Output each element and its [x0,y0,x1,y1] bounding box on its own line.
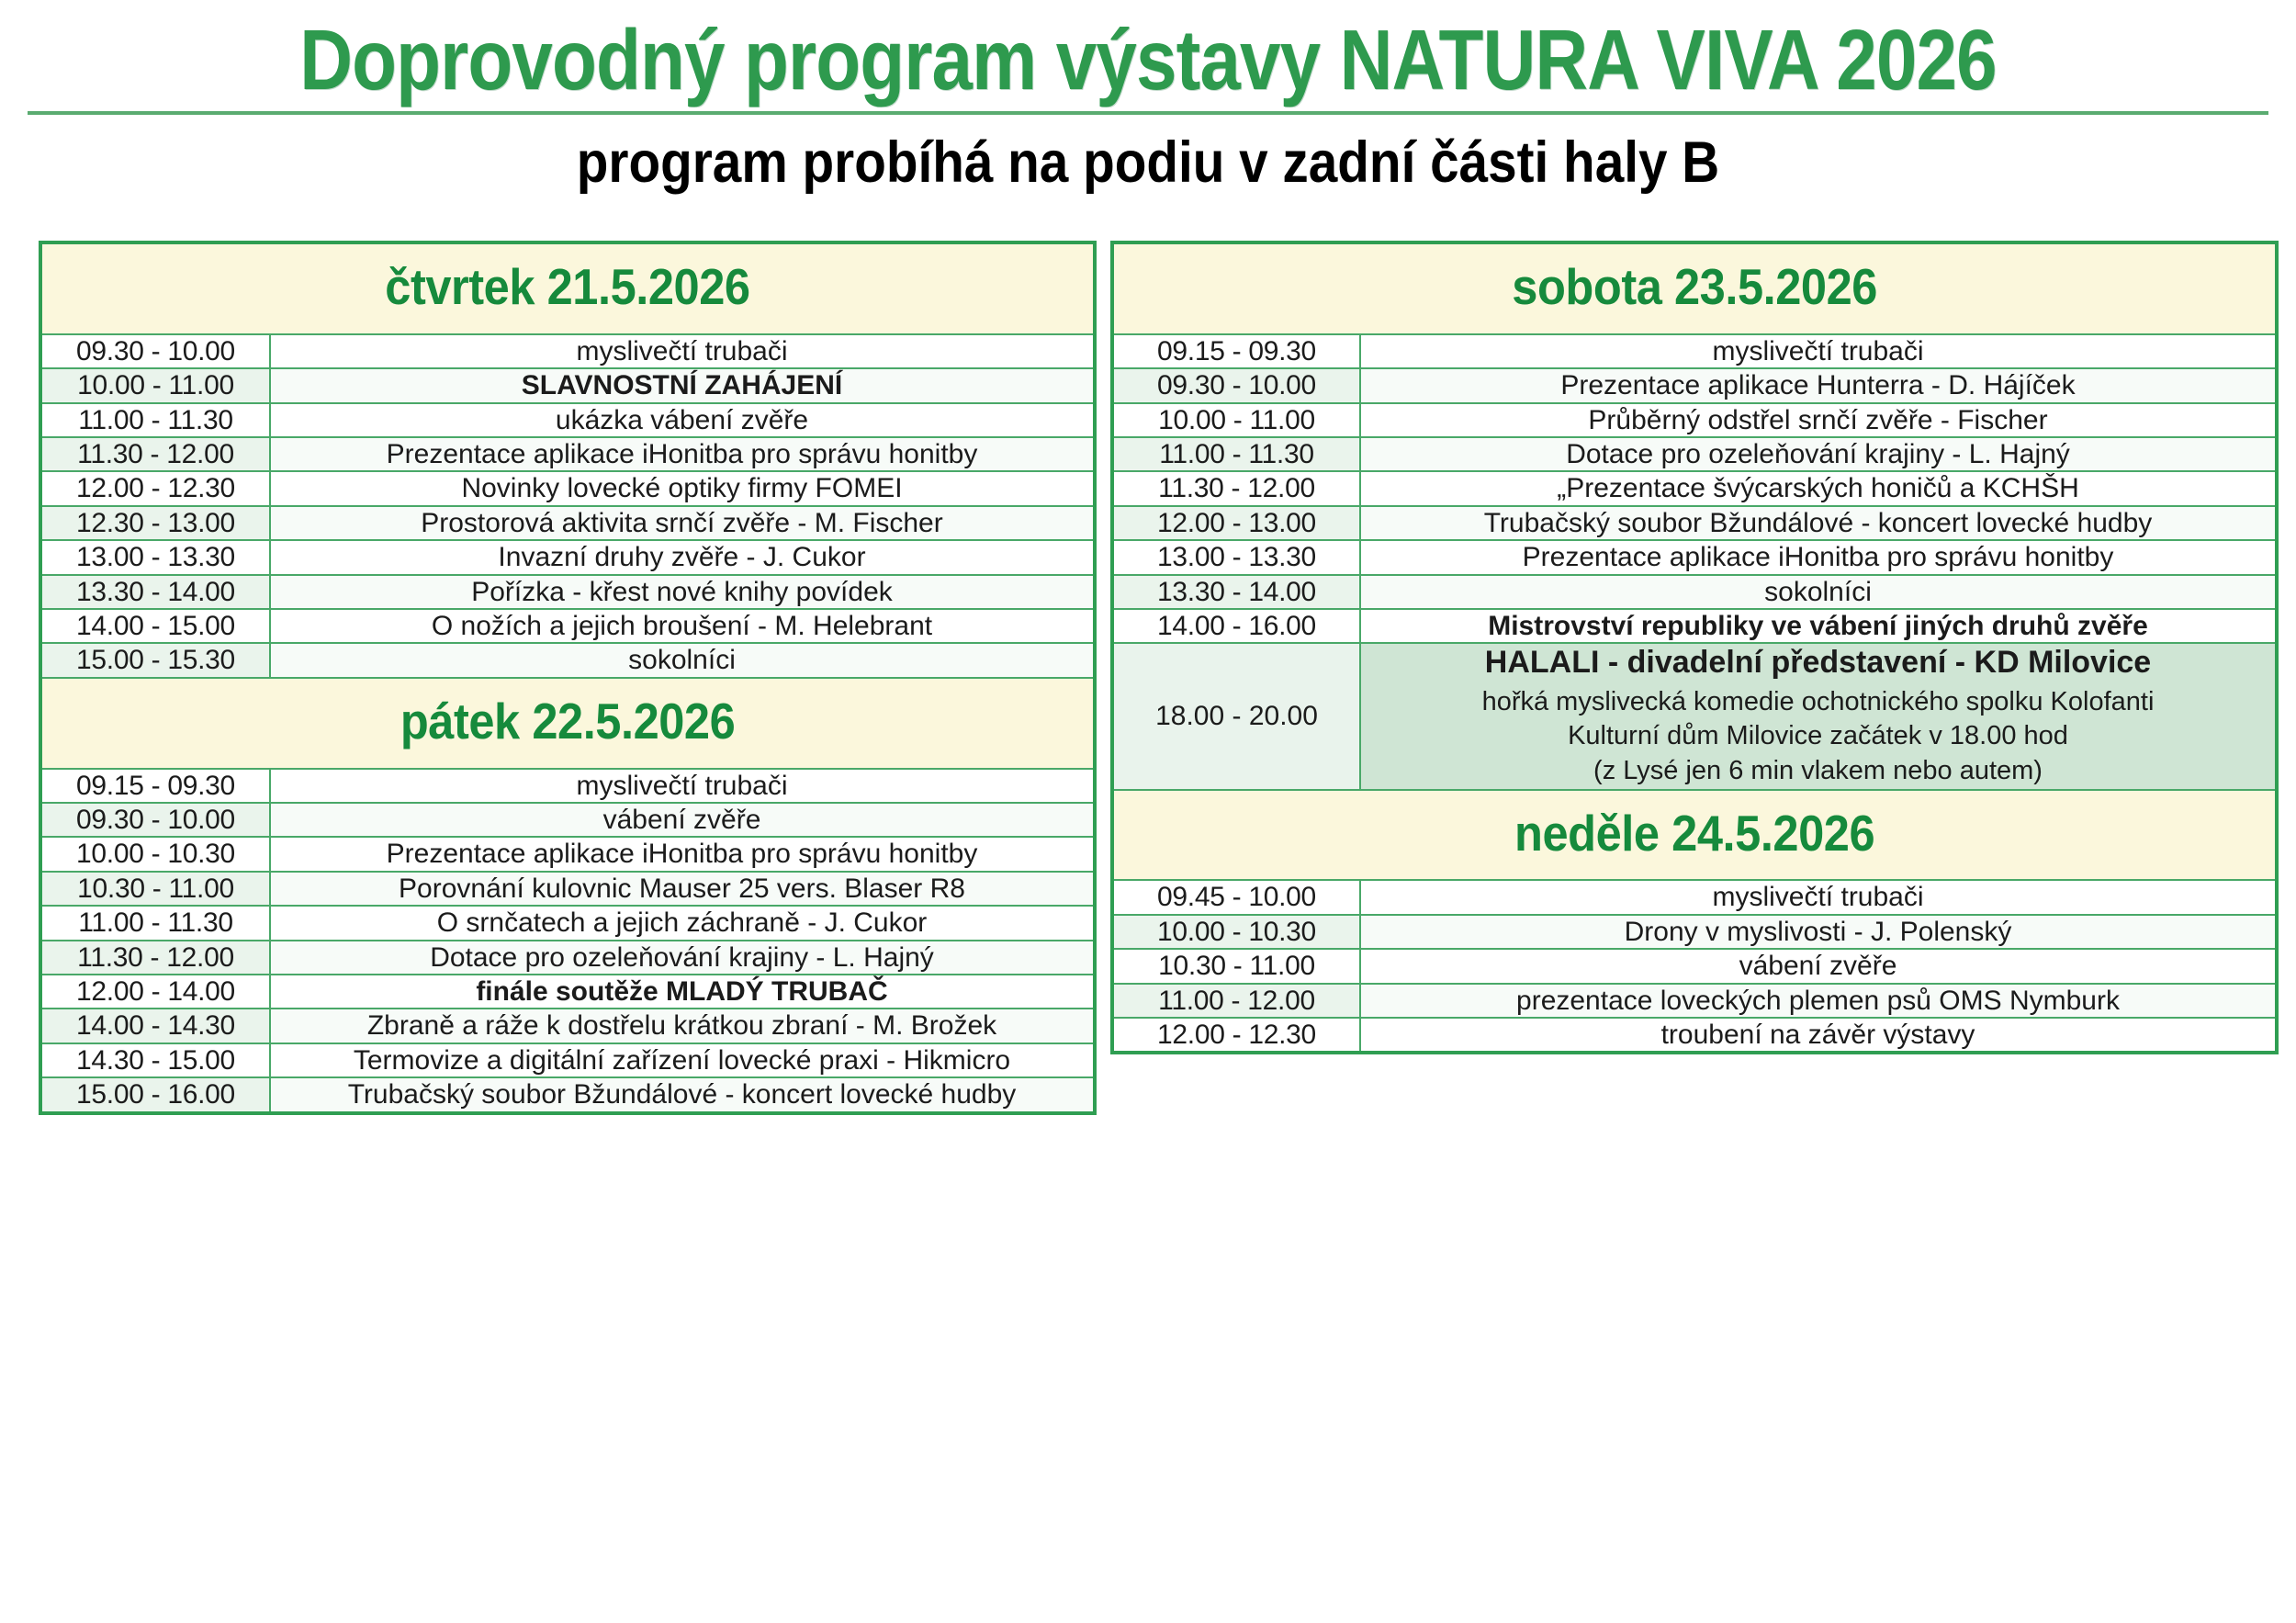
day-header-row: sobota 23.5.2026 [1112,242,2277,334]
table-row: 15.00 - 15.30sokolníci [40,643,1095,677]
table-row: 14.00 - 14.30Zbraně a ráže k dostřelu kr… [40,1009,1095,1043]
row-program: Pořízka - křest nové knihy povídek [270,575,1095,609]
row-program: Trubačský soubor Bžundálové - koncert lo… [1360,506,2277,540]
table-row: 14.30 - 15.00Termovize a digitální zaříz… [40,1043,1095,1077]
row-program: vábení zvěře [270,803,1095,837]
row-time: 09.30 - 10.00 [1112,368,1360,402]
row-time: 14.00 - 16.00 [1112,609,1360,643]
row-program: HALALI - divadelní představení - KD Milo… [1360,643,2277,789]
day-title-text: čtvrtek 21.5.2026 [385,257,749,317]
table-row: 09.30 - 10.00vábení zvěře [40,803,1095,837]
row-time: 09.45 - 10.00 [1112,880,1360,914]
row-program: ukázka vábení zvěře [270,403,1095,437]
row-time: 14.30 - 15.00 [40,1043,270,1077]
row-time: 11.00 - 11.30 [1112,437,1360,471]
row-program: Invazní druhy zvěře - J. Cukor [270,540,1095,574]
table-row: 14.00 - 15.00O nožích a jejich broušení … [40,609,1095,643]
table-row: 10.00 - 10.30Prezentace aplikace iHonitb… [40,837,1095,871]
row-program: Průběrný odstřel srnčí zvěře - Fischer [1360,403,2277,437]
table-row: 11.30 - 12.00Dotace pro ozeleňování kraj… [40,941,1095,975]
row-time: 11.30 - 12.00 [1112,471,1360,505]
event-title: HALALI - divadelní představení - KD Milo… [1370,644,2266,681]
page-title: Doprovodný program výstavy NATURA VIVA 2… [161,15,2135,106]
table-row: 12.00 - 12.30Novinky lovecké optiky firm… [40,471,1095,505]
day-title: sobota 23.5.2026 [1112,242,2277,334]
row-program: Prezentace aplikace Hunterra - D. Hájíče… [1360,368,2277,402]
row-program: Trubačský soubor Bžundálové - koncert lo… [270,1077,1095,1112]
table-row: 10.30 - 11.00vábení zvěře [1112,949,2277,983]
row-time: 09.15 - 09.30 [40,769,270,803]
row-time: 13.00 - 13.30 [40,540,270,574]
day-title-text: pátek 22.5.2026 [400,692,735,751]
program-poster: Doprovodný program výstavy NATURA VIVA 2… [0,0,2296,1623]
row-program: SLAVNOSTNÍ ZAHÁJENÍ [270,368,1095,402]
table-row: 11.00 - 11.30Dotace pro ozeleňování kraj… [1112,437,2277,471]
table-row: 12.00 - 13.00Trubačský soubor Bžundálové… [1112,506,2277,540]
row-program: myslivečtí trubači [270,769,1095,803]
row-program: „Prezentace švýcarských honičů a KCHŠH [1360,471,2277,505]
row-program: Prezentace aplikace iHonitba pro správu … [270,837,1095,871]
row-time: 15.00 - 15.30 [40,643,270,677]
row-program: O srnčatech a jejich záchraně - J. Cukor [270,906,1095,940]
right-column: sobota 23.5.202609.15 - 09.30myslivečtí … [1110,241,2279,1115]
event-detail-line: hořká myslivecká komedie ochotnického sp… [1370,685,2266,720]
row-time: 11.00 - 11.30 [40,403,270,437]
table-row: 14.00 - 16.00Mistrovství republiky ve vá… [1112,609,2277,643]
event-detail-line: Kulturní dům Milovice začátek v 18.00 ho… [1370,719,2266,754]
table-row: 10.00 - 10.30Drony v myslivosti - J. Pol… [1112,915,2277,949]
row-program: Prostorová aktivita srnčí zvěře - M. Fis… [270,506,1095,540]
table-row: 13.00 - 13.30Prezentace aplikace iHonitb… [1112,540,2277,574]
row-program: Novinky lovecké optiky firmy FOMEI [270,471,1095,505]
row-program: myslivečtí trubači [1360,880,2277,914]
row-time: 13.30 - 14.00 [40,575,270,609]
table-row: 10.30 - 11.00Porovnání kulovnic Mauser 2… [40,872,1095,906]
day-title: čtvrtek 21.5.2026 [40,242,1095,334]
poster-header: Doprovodný program výstavy NATURA VIVA 2… [0,0,2296,195]
row-time: 13.00 - 13.30 [1112,540,1360,574]
day-title-text: neděle 24.5.2026 [1514,804,1874,863]
row-time: 09.30 - 10.00 [40,334,270,368]
table-row: 13.00 - 13.30Invazní druhy zvěře - J. Cu… [40,540,1095,574]
row-program: Prezentace aplikace iHonitba pro správu … [270,437,1095,471]
table-row: 11.00 - 11.30O srnčatech a jejich záchra… [40,906,1095,940]
schedule-columns: čtvrtek 21.5.202609.30 - 10.00myslivečtí… [0,241,2296,1115]
row-time: 10.30 - 11.00 [40,872,270,906]
table-row: 12.00 - 12.30troubení na závěr výstavy [1112,1018,2277,1053]
row-time: 18.00 - 20.00 [1112,643,1360,789]
table-row: 11.30 - 12.00„Prezentace švýcarských hon… [1112,471,2277,505]
row-time: 14.00 - 15.00 [40,609,270,643]
row-program: Mistrovství republiky ve vábení jiných d… [1360,609,2277,643]
row-time: 10.30 - 11.00 [1112,949,1360,983]
row-time: 11.00 - 11.30 [40,906,270,940]
highlighted-event-row: 18.00 - 20.00HALALI - divadelní představ… [1112,643,2277,789]
row-program: Porovnání kulovnic Mauser 25 vers. Blase… [270,872,1095,906]
row-program: finále soutěže MLADÝ TRUBAČ [270,975,1095,1009]
event-detail-line: (z Lysé jen 6 min vlakem nebo autem) [1370,754,2266,789]
row-time: 11.30 - 12.00 [40,941,270,975]
row-time: 09.15 - 09.30 [1112,334,1360,368]
row-time: 10.00 - 10.30 [40,837,270,871]
day-header-row: pátek 22.5.2026 [40,678,1095,769]
row-time: 11.00 - 12.00 [1112,984,1360,1018]
row-program: Dotace pro ozeleňování krajiny - L. Hajn… [270,941,1095,975]
table-row: 13.30 - 14.00sokolníci [1112,575,2277,609]
page-subtitle: program probíhá na podiu v zadní části h… [115,131,2181,195]
row-time: 12.30 - 13.00 [40,506,270,540]
row-time: 09.30 - 10.00 [40,803,270,837]
title-divider [28,111,2268,115]
day-header-row: neděle 24.5.2026 [1112,790,2277,881]
table-row: 12.30 - 13.00Prostorová aktivita srnčí z… [40,506,1095,540]
table-row: 12.00 - 14.00finále soutěže MLADÝ TRUBAČ [40,975,1095,1009]
table-row: 11.30 - 12.00Prezentace aplikace iHonitb… [40,437,1095,471]
row-program: myslivečtí trubači [1360,334,2277,368]
row-program: Termovize a digitální zařízení lovecké p… [270,1043,1095,1077]
row-program: sokolníci [1360,575,2277,609]
row-time: 10.00 - 11.00 [40,368,270,402]
row-time: 14.00 - 14.30 [40,1009,270,1043]
table-row: 09.45 - 10.00myslivečtí trubači [1112,880,2277,914]
table-row: 11.00 - 12.00prezentace loveckých plemen… [1112,984,2277,1018]
row-time: 11.30 - 12.00 [40,437,270,471]
table-row: 09.30 - 10.00myslivečtí trubači [40,334,1095,368]
row-time: 15.00 - 16.00 [40,1077,270,1112]
row-time: 13.30 - 14.00 [1112,575,1360,609]
table-row: 15.00 - 16.00Trubačský soubor Bžundálové… [40,1077,1095,1112]
left-column: čtvrtek 21.5.202609.30 - 10.00myslivečtí… [39,241,1097,1115]
row-program: Prezentace aplikace iHonitba pro správu … [1360,540,2277,574]
table-row: 10.00 - 11.00SLAVNOSTNÍ ZAHÁJENÍ [40,368,1095,402]
schedule-table-left: čtvrtek 21.5.202609.30 - 10.00myslivečtí… [39,241,1097,1115]
table-row: 11.00 - 11.30ukázka vábení zvěře [40,403,1095,437]
day-title: pátek 22.5.2026 [40,678,1095,769]
row-time: 12.00 - 12.30 [40,471,270,505]
row-program: prezentace loveckých plemen psů OMS Nymb… [1360,984,2277,1018]
day-header-row: čtvrtek 21.5.2026 [40,242,1095,334]
row-program: vábení zvěře [1360,949,2277,983]
day-title-text: sobota 23.5.2026 [1512,257,1877,317]
table-row: 09.30 - 10.00Prezentace aplikace Hunterr… [1112,368,2277,402]
row-time: 10.00 - 11.00 [1112,403,1360,437]
day-title: neděle 24.5.2026 [1112,790,2277,881]
row-program: Drony v myslivosti - J. Polenský [1360,915,2277,949]
row-program: Dotace pro ozeleňování krajiny - L. Hajn… [1360,437,2277,471]
row-program: sokolníci [270,643,1095,677]
row-time: 10.00 - 10.30 [1112,915,1360,949]
row-time: 12.00 - 14.00 [40,975,270,1009]
table-row: 13.30 - 14.00Pořízka - křest nové knihy … [40,575,1095,609]
row-program: troubení na závěr výstavy [1360,1018,2277,1053]
row-time: 12.00 - 12.30 [1112,1018,1360,1053]
row-time: 12.00 - 13.00 [1112,506,1360,540]
schedule-table-right: sobota 23.5.202609.15 - 09.30myslivečtí … [1110,241,2279,1054]
table-row: 10.00 - 11.00Průběrný odstřel srnčí zvěř… [1112,403,2277,437]
row-program: Zbraně a ráže k dostřelu krátkou zbraní … [270,1009,1095,1043]
row-program: O nožích a jejich broušení - M. Helebran… [270,609,1095,643]
table-row: 09.15 - 09.30myslivečtí trubači [40,769,1095,803]
table-row: 09.15 - 09.30myslivečtí trubači [1112,334,2277,368]
row-program: myslivečtí trubači [270,334,1095,368]
